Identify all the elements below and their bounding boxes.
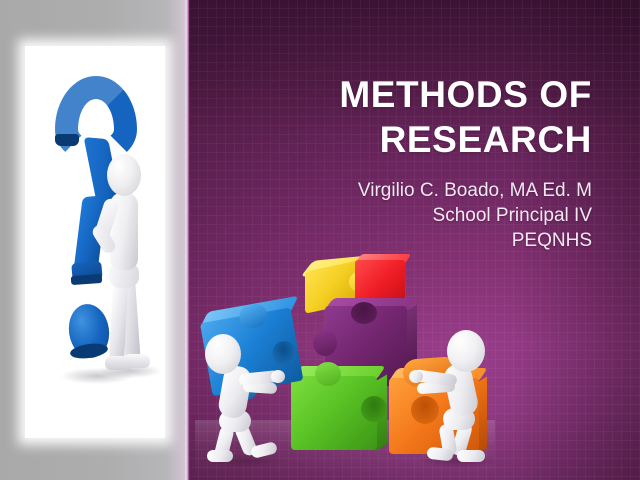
right-figure-head (447, 330, 485, 372)
title-line-2: RESEARCH (300, 117, 592, 162)
right-figure-foot-back (457, 450, 485, 462)
purple-piece-knob (313, 330, 337, 356)
subtitle-author: Virgilio C. Boado, MA Ed. M (300, 178, 592, 203)
question-mark-photo-card (25, 46, 165, 438)
left-figure-hand (271, 370, 285, 383)
puzzle-illustration (195, 252, 495, 480)
subtitle: Virgilio C. Boado, MA Ed. M School Princ… (300, 178, 592, 253)
thinking-figure (97, 154, 153, 404)
left-figure-head (205, 334, 241, 374)
right-figure-hand (409, 370, 423, 383)
left-figure (199, 332, 295, 462)
right-figure (403, 330, 495, 464)
question-mark-photo (25, 46, 165, 438)
page-title: METHODS OF RESEARCH (300, 72, 592, 162)
subtitle-organization: PEQNHS (300, 228, 592, 253)
left-panel-edge-divider (185, 0, 189, 480)
question-mark-hook-tip (55, 134, 79, 146)
thinking-figure-head (107, 154, 141, 196)
thinking-figure-foot-front (105, 356, 133, 370)
presentation-slide: METHODS OF RESEARCH Virgilio C. Boado, M… (0, 0, 640, 480)
subtitle-position: School Principal IV (300, 203, 592, 228)
title-line-1: METHODS OF (300, 72, 592, 117)
left-figure-foot-front (207, 450, 233, 462)
purple-piece-hole (351, 302, 377, 324)
